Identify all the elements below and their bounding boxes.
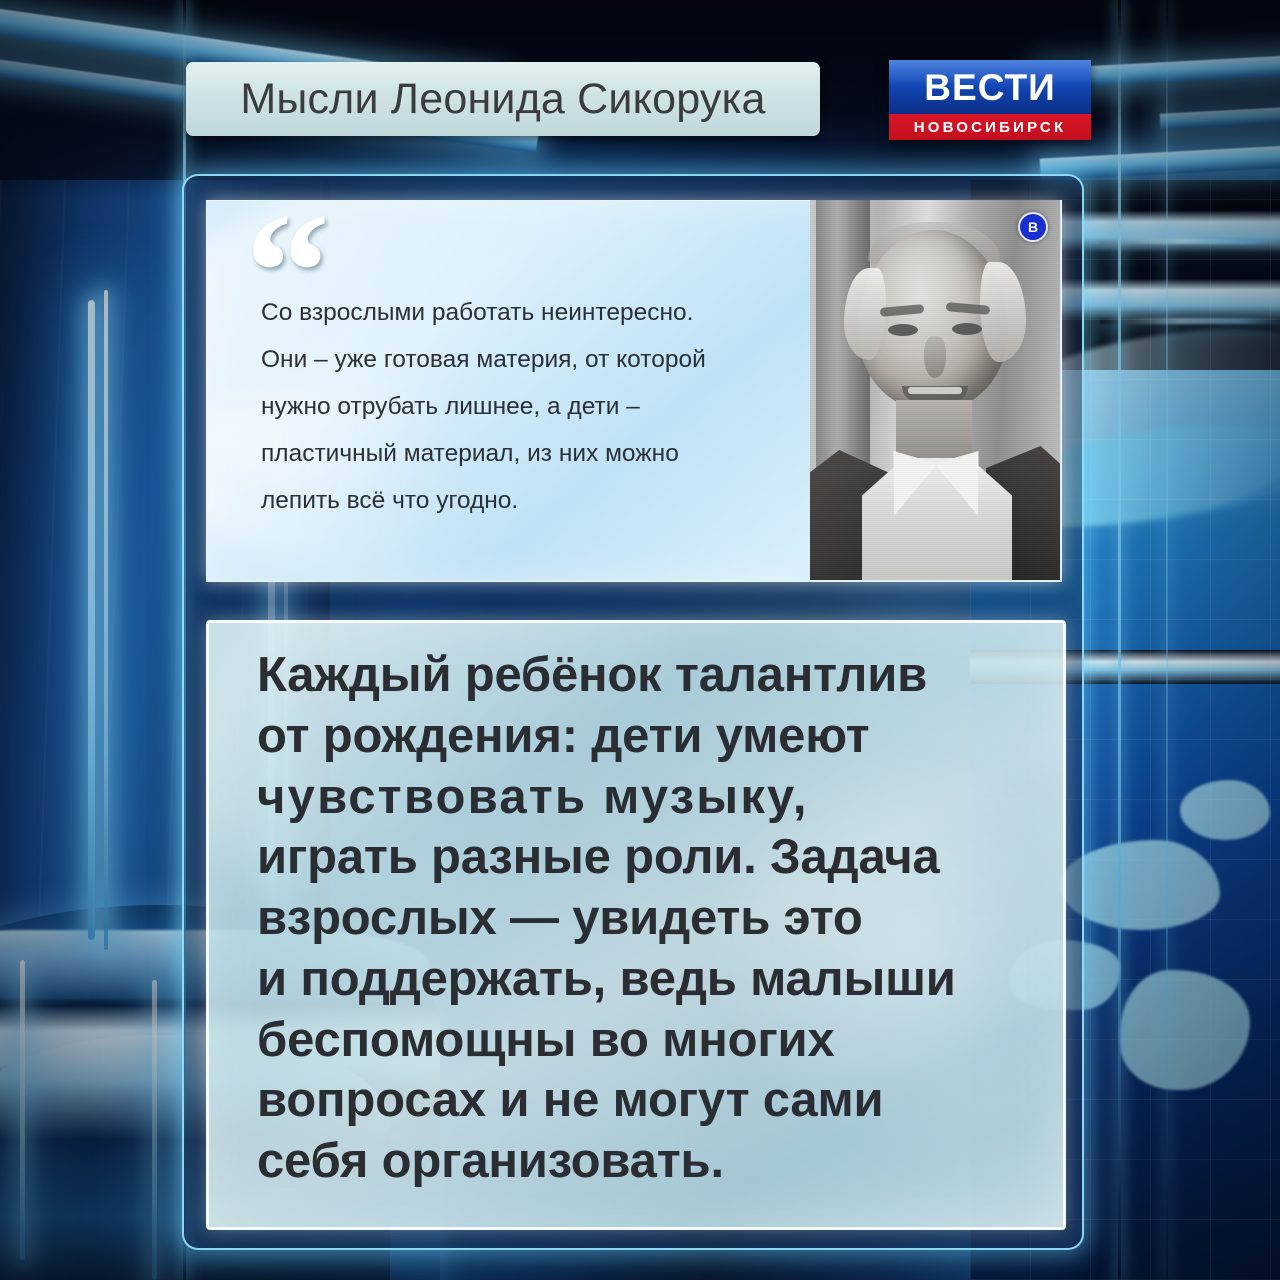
quote-card: “ Со взрослыми работать неинтересно. Они…: [182, 174, 1084, 1250]
channel-logo-main: ВЕСТИ: [889, 60, 1091, 114]
quote-line: пластичный материал, из них можно: [261, 430, 831, 477]
channel-logo: ВЕСТИ НОВОСИБИРСК: [889, 60, 1091, 140]
statement-line: и поддержать, ведь малыши: [257, 949, 1027, 1010]
statement-line: чувствовать музыку,: [257, 767, 1027, 828]
broadcast-quote-card: Мысли Леонида Сикорука ВЕСТИ НОВОСИБИРСК…: [0, 0, 1280, 1280]
quote-text: Со взрослыми работать неинтересно. Они –…: [261, 289, 831, 524]
statement-line: себя организовать.: [257, 1131, 1027, 1192]
quote-line: лепить всё что угодно.: [261, 477, 831, 524]
quote-line: Они – уже готовая материя, от которой: [261, 336, 831, 383]
page-title: Мысли Леонида Сикорука: [240, 75, 765, 124]
channel-logo-region: НОВОСИБИРСК: [889, 114, 1091, 140]
quote-line: нужно отрубать лишнее, а дети –: [261, 383, 831, 430]
statement-line: от рождения: дети умеют: [257, 706, 1027, 767]
portrait-photo: В: [810, 200, 1060, 580]
page-title-banner: Мысли Леонида Сикорука: [186, 62, 820, 136]
statement-text: Каждый ребёнок талантлив от рождения: де…: [257, 645, 1027, 1192]
statement-line: беспомощны во многих: [257, 1010, 1027, 1071]
statement-line: взрослых — увидеть это: [257, 888, 1027, 949]
statement-panel: Каждый ребёнок талантлив от рождения: де…: [206, 620, 1066, 1230]
quote-line: Со взрослыми работать неинтересно.: [261, 289, 831, 336]
channel-logo-city: НОВОСИБИРСК: [914, 120, 1067, 135]
statement-line: Каждый ребёнок талантлив: [257, 645, 1027, 706]
portrait-grain-overlay: [810, 200, 1060, 580]
channel-logo-name: ВЕСТИ: [924, 69, 1055, 106]
statement-line: вопросах и не могут сами: [257, 1070, 1027, 1131]
statement-line: играть разные роли. Задача: [257, 827, 1027, 888]
vesti-watermark-icon: В: [1018, 212, 1048, 242]
